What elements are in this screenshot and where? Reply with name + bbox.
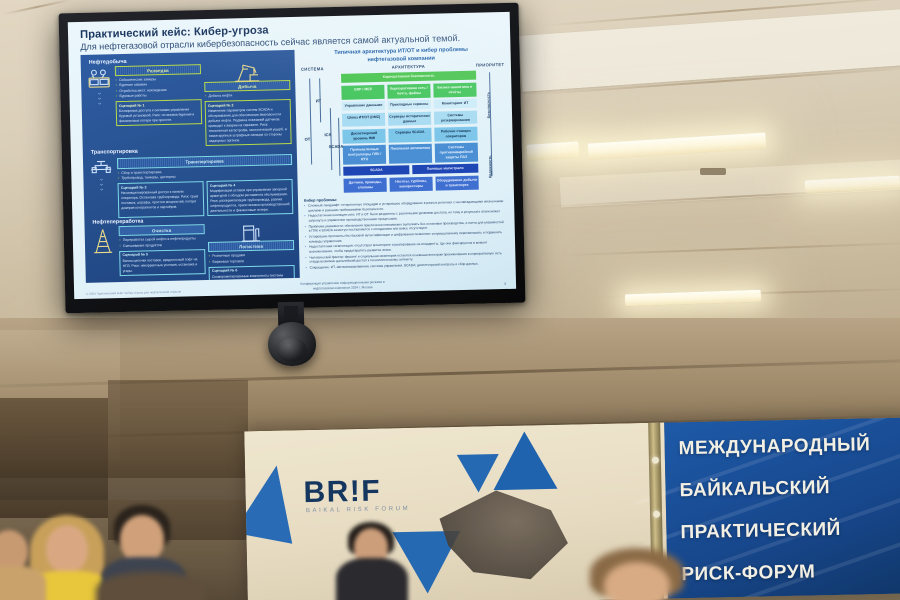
priority-axis: Безопасность Надежность (476, 70, 505, 192)
banner-logo: BR!F (303, 474, 381, 510)
arch-cell: Насосы, турбины, компрессоры (389, 177, 433, 192)
list-item: Биржевая торговля (212, 258, 294, 265)
list-item: Буровые работы (119, 92, 201, 99)
arch-row-5: Промышленные контроллеры ПЛК / RTU Локал… (343, 143, 478, 165)
monitor-screen: Практический кейс: Кибер-угроза Для нефт… (68, 12, 516, 299)
arch-cell: Локальная автоматика (389, 144, 433, 164)
upstream-production-bullets: Добыча нефти (204, 92, 290, 99)
arch-row-6: SCADA Полевые магистрали (343, 164, 478, 176)
chip-exploration: Разведка (115, 64, 201, 76)
transport-scenarios: Сценарий № 3 Несанкционированный доступ … (117, 177, 293, 218)
footer-page-number: 3 (504, 282, 506, 286)
scenario-card-5: Сценарий № 5 Взлом цепочки поставок, вре… (119, 249, 206, 276)
refining-cleaning-column: Очистка Переработка сырой нефти в нефтеп… (119, 224, 207, 283)
banner-pole-fitting-2 (653, 511, 660, 518)
transport-icon-column: ⌄ ⌄ ⌄ (88, 157, 115, 219)
arch-cell: Системы резервирования (434, 110, 478, 125)
banner-line-2: БАЙКАЛЬСКИЙ (679, 477, 830, 502)
chip-logistics: Логистика (208, 240, 294, 252)
axis-label-ot: ОТ (305, 137, 311, 142)
axis-label-ics: ICS (324, 132, 331, 137)
arch-cell: Управление данными (342, 101, 386, 111)
scenario-text: Несанкционированный доступ к панели опер… (121, 189, 201, 211)
attendee-foreground-2 (96, 572, 206, 600)
arch-cell: Серверы SCADA (388, 128, 432, 143)
footer-center: Конференция управление информационными р… (181, 277, 504, 294)
scenario-card-4: Сценарий № 4 Модификация уставок при упр… (207, 179, 294, 216)
axis-label-scada: SCADA (329, 144, 344, 149)
banner-line-1: МЕЖДУНАРОДНЫЙ (678, 434, 870, 460)
arch-cell: ERP / MES (341, 84, 385, 99)
arch-row-0: Корпоративная безопасность (341, 71, 476, 83)
upstream-icon-column: ⌄ ⌄ ⌄ (86, 66, 114, 149)
it-ot-architecture-diagram: Типичная архитектура ИТ/ОТ и кибер пробл… (300, 45, 506, 278)
section-row-refining: Очистка Переработка сырой нефти в нефтеп… (90, 222, 296, 283)
axis-label-security: Безопасность (487, 92, 492, 118)
arch-cell: Оборудование добычи и транспорта (435, 175, 479, 190)
scenario-text: Модификация уставок при управлении запор… (210, 187, 290, 214)
scenario-card-2: Сценарий № 2 Изменение параметров систем… (205, 99, 292, 146)
ceiling-vent-icon (700, 168, 726, 175)
header-priority: ПРИОРИТЕТ (476, 62, 502, 68)
upstream-explore-column: Разведка Сейсмические замеры Бурение скв… (115, 64, 203, 148)
header-system: СИСТЕМА (301, 66, 341, 72)
arch-columns: ИТ ОТ ICS SCADA Корпоративная безопаснос… (301, 70, 505, 196)
list-item: Смешивание продуктов (123, 242, 205, 249)
arch-cell: Прикладные сервисы (388, 100, 432, 110)
axis-line-ot (309, 79, 312, 165)
upstream-production-column: Добыча Добыча нефти Сценарий № 2 Изменен… (204, 62, 292, 146)
arch-cell: Бизнес-аналитика и отчёты (433, 82, 477, 97)
presentation-slide: Практический кейс: Кибер-угроза Для нефт… (68, 12, 516, 299)
chip-refining: Очистка (119, 224, 205, 236)
system-axis: ИТ ОТ ICS SCADA (301, 74, 344, 196)
upstream-explore-bullets: Сейсмические замеры Бурение скважин Отра… (115, 76, 201, 99)
scenario-card-6: Сценарий № 6 Скомпрометированные компоне… (209, 265, 296, 283)
list-item: Добыча нефти (208, 92, 290, 99)
arch-row-1: ERP / MES Корпоративная сеть / почта, фа… (341, 82, 476, 99)
arch-cell: Шлюз ИТ/ОТ (DMZ) (342, 112, 386, 127)
section-row-upstream: ⌄ ⌄ ⌄ Разведка Сейсмические замеры Бурен… (86, 62, 292, 149)
arch-row-3: Шлюз ИТ/ОТ (DMZ) Серверы исторических да… (342, 110, 477, 127)
attendee-torso (336, 558, 408, 600)
flow-chevron-6: ⌄ (99, 187, 105, 192)
banner-triangle-left (244, 460, 306, 544)
arch-cell: Мониторинг ИТ (433, 99, 477, 109)
arch-row-7: Датчики, приводы, клапаны Насосы, турбин… (344, 175, 479, 192)
arch-cell: Корпоративная сеть / почта, файлы (387, 83, 431, 98)
architecture-grid: Корпоративная безопасность ERP / MES Кор… (341, 71, 479, 195)
logistics-bullets: Розничные продажи Биржевая торговля (208, 252, 294, 265)
footer-left: © 2024 Практический кейс: Кибер-угроза д… (86, 290, 181, 296)
arch-cell: SCADA (343, 165, 409, 176)
arch-cell: Диспетчерский уровень HMI (342, 129, 386, 144)
banner-line-4: РИСК-ФОРУМ (681, 561, 815, 586)
banner-triangle-mid-down (457, 454, 500, 493)
arch-row-4: Диспетчерский уровень HMI Серверы SCADA … (342, 127, 477, 144)
slide-body: Нефтедобыча ⌄ (81, 45, 507, 283)
seismic-crew-icon (87, 68, 112, 91)
wall-monitor: Практический кейс: Кибер-угроза Для нефт… (59, 3, 526, 314)
refining-logistics-column: Логистика Розничные продажи Биржевая тор… (208, 222, 296, 283)
axis-label-it: ИТ (316, 98, 322, 103)
attendee-foreground (580, 548, 700, 600)
attendee-head (46, 525, 88, 573)
attendee-left-edge (0, 530, 44, 600)
axis-label-reliability: Надежность (488, 155, 493, 178)
arch-cell: Датчики, приводы, клапаны (344, 178, 388, 193)
attendee-head (120, 515, 164, 563)
scenario-card-3: Сценарий № 3 Несанкционированный доступ … (118, 181, 205, 218)
problems-list: Сложный ландшафт: гетерогенные площадки … (304, 199, 507, 270)
conference-room-scene: BR!F BAIKAL RISK FORUM МЕЖДУНАРОДНЫЙ БАЙ… (0, 0, 900, 600)
arch-cell: Серверы исторических данных (388, 111, 432, 126)
attendee-torso (0, 566, 46, 600)
dome-camera-icon (268, 322, 316, 366)
refinery-tower-icon (92, 228, 115, 255)
scenario-text: Изменение параметров систем SCADA и обсл… (208, 107, 288, 143)
arch-row-2: Управление данными Прикладные сервисы Мо… (342, 99, 477, 111)
banner-logo-subtitle: BAIKAL RISK FORUM (306, 506, 410, 514)
refining-bullets: Переработка сырой нефти в нефтепродукты … (119, 236, 205, 249)
refining-icon-column (90, 226, 118, 283)
flow-chevron-3: ⌄ (97, 100, 103, 105)
oil-gas-value-chain-panel: Нефтедобыча ⌄ (81, 50, 300, 283)
banner-line-3: ПРАКТИЧЕСКИЙ (680, 519, 841, 544)
scenario-card-1: Сценарий № 1 Блокировка доступа к систем… (116, 99, 203, 126)
scenario-text: Взлом цепочки поставок, вредоносный софт… (123, 257, 203, 274)
arch-cell: Полевые магистрали (412, 164, 478, 175)
arch-cell: Промышленные контроллеры ПЛК / RTU (343, 145, 387, 165)
chip-production: Добыча (204, 80, 290, 92)
transport-content-column: Транспортировка Сбор и транспортировка Т… (117, 152, 293, 218)
section-row-transport: ⌄ ⌄ ⌄ Транспортировка Сбор и транспортир… (88, 152, 293, 219)
pipeline-valve-icon (89, 159, 113, 178)
arch-cell: Корпоративная безопасность (341, 71, 476, 83)
arch-cell: Рабочие станции операторов (434, 127, 478, 142)
arch-cell: Системы противоаварийной защиты ПАЗ (434, 143, 478, 163)
banner-pole-fitting-1 (652, 457, 659, 464)
attendee-standing-dark (336, 522, 410, 600)
axis-line-ics (330, 108, 332, 170)
attendee-head (604, 562, 670, 600)
cyber-problems-block: Кибер проблемы: Сложный ландшафт: гетеро… (304, 194, 507, 270)
banner-triangle-mid-up (492, 431, 557, 490)
scenario-text: Блокировка доступа к системам управления… (119, 107, 199, 124)
